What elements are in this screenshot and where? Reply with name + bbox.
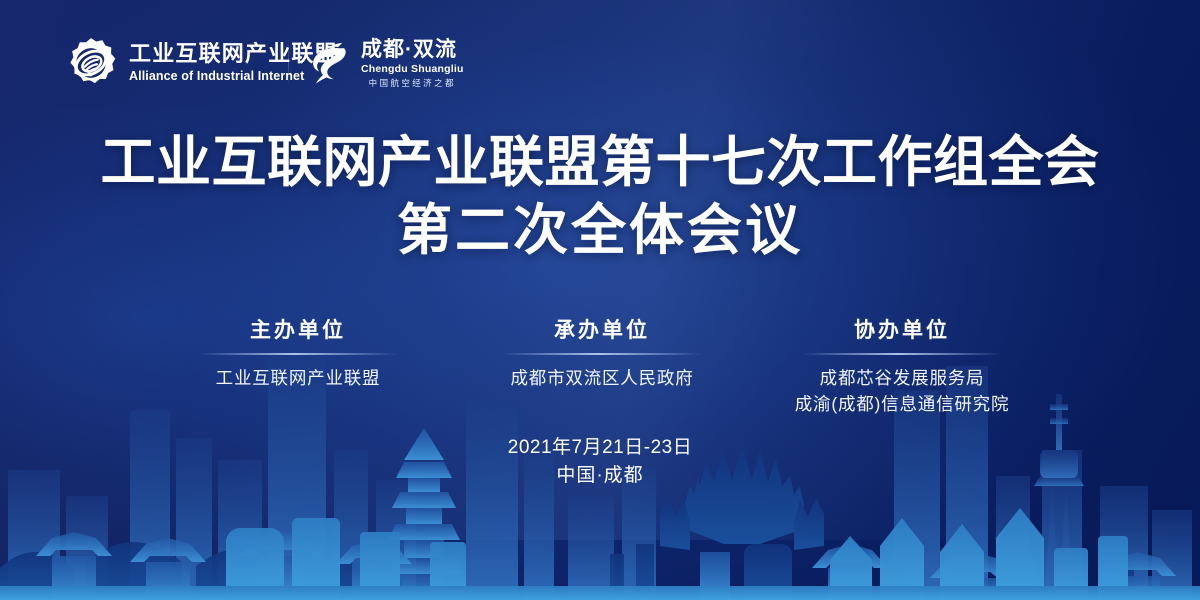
organizer-column-supporter: 协办单位 成都芯谷发展服务局 成渝(成都)信息通信研究院: [752, 318, 1052, 417]
logo-chengdu-shuangliu: 成都·双流 Chengdu Shuangliu 中国航空经济之都: [306, 38, 464, 88]
organizer-name: 工业互联网产业联盟: [148, 365, 448, 391]
swirl-ribbon-icon: [306, 38, 352, 88]
conference-banner: 工业互联网产业联盟 Alliance of Industrial Interne…: [0, 0, 1200, 600]
gear-wifi-icon: [64, 36, 118, 90]
organizer-divider: [502, 353, 702, 355]
logo-bar: 工业互联网产业联盟 Alliance of Industrial Interne…: [0, 0, 1200, 118]
organizer-divider: [802, 353, 1002, 355]
event-datetime-location: 2021年7月21日-23日 中国·成都: [0, 434, 1200, 490]
title-line-2: 第二次全体会议: [0, 196, 1200, 264]
organizer-name: 成渝(成都)信息通信研究院: [752, 391, 1052, 417]
title-line-1: 工业互联网产业联盟第十七次工作组全会: [0, 128, 1200, 196]
conference-title: 工业互联网产业联盟第十七次工作组全会 第二次全体会议: [0, 128, 1200, 264]
organizer-name: 成都市双流区人民政府: [452, 365, 752, 391]
event-date: 2021年7月21日-23日: [0, 434, 1200, 462]
organizer-divider: [198, 353, 398, 355]
organizer-name: 成都芯谷发展服务局: [752, 365, 1052, 391]
logo-alliance-of-industrial-internet: 工业互联网产业联盟 Alliance of Industrial Interne…: [64, 36, 338, 90]
organizer-role-label: 承办单位: [452, 318, 752, 344]
logo-separator: [288, 40, 289, 86]
cdsl-logo-tagline: 中国航空经济之都: [361, 79, 464, 88]
event-place: 中国·成都: [0, 462, 1200, 490]
cdsl-logo-en-name: Chengdu Shuangliu: [361, 64, 464, 75]
organizer-column-co-host: 承办单位 成都市双流区人民政府: [452, 318, 752, 391]
organizer-column-host: 主办单位 工业互联网产业联盟: [148, 318, 448, 391]
organizer-role-label: 协办单位: [752, 318, 1052, 344]
organizers-section: 主办单位 工业互联网产业联盟 承办单位 成都市双流区人民政府 协办单位 成都芯谷…: [0, 318, 1200, 417]
cdsl-logo-cn-name: 成都·双流: [361, 39, 464, 60]
organizer-role-label: 主办单位: [148, 318, 448, 344]
